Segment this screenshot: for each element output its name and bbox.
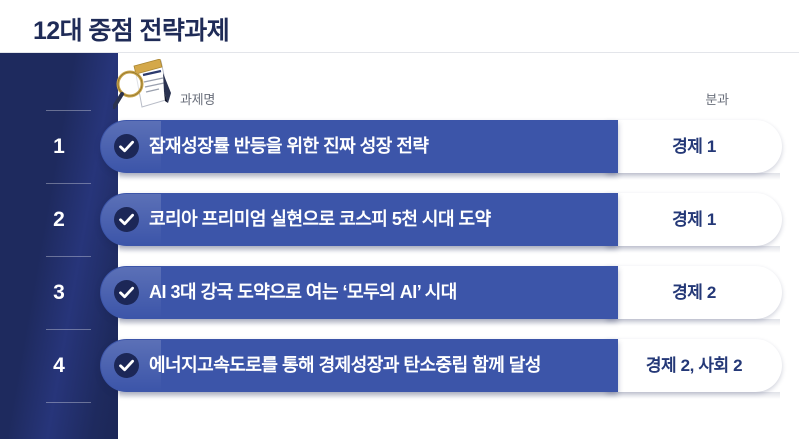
row-number: 4 xyxy=(42,339,76,392)
row-number: 2 xyxy=(42,193,76,246)
slide-root: 12대 중점 전략과제 과제명 분과 xyxy=(0,0,799,439)
column-header-division: 분과 xyxy=(672,89,762,108)
task-bar[interactable]: AI 3대 강국 도약으로 여는 ‘모두의 AI’ 시대 xyxy=(100,266,618,319)
check-circle-icon xyxy=(114,280,139,305)
table-row[interactable]: 3 AI 3대 강국 도약으로 여는 ‘모두의 AI’ 시대 경제 2 xyxy=(0,266,799,319)
task-name: AI 3대 강국 도약으로 여는 ‘모두의 AI’ 시대 xyxy=(149,266,457,319)
navy-divider xyxy=(46,402,91,403)
division-value: 경제 1 xyxy=(624,120,764,173)
division-value: 경제 2, 사회 2 xyxy=(624,339,764,392)
check-circle-icon xyxy=(114,353,139,378)
check-circle-icon xyxy=(114,207,139,232)
page-title: 12대 중점 전략과제 xyxy=(33,11,229,47)
task-bar[interactable]: 잠재성장률 반등을 위한 진짜 성장 전략 xyxy=(100,120,618,173)
navy-divider xyxy=(46,256,91,257)
title-bar: 12대 중점 전략과제 xyxy=(0,0,799,53)
division-value: 경제 1 xyxy=(624,193,764,246)
task-name: 에너지고속도로를 통해 경제성장과 탄소중립 함께 달성 xyxy=(149,339,541,392)
table-row[interactable]: 1 잠재성장률 반등을 위한 진짜 성장 전략 경제 1 xyxy=(0,120,799,173)
table-row[interactable]: 2 코리아 프리미엄 실현으로 코스피 5천 시대 도약 경제 1 xyxy=(0,193,799,246)
navy-divider xyxy=(46,110,91,111)
column-header-task: 과제명 xyxy=(180,89,215,108)
row-number: 1 xyxy=(42,120,76,173)
task-bar[interactable]: 에너지고속도로를 통해 경제성장과 탄소중립 함께 달성 xyxy=(100,339,618,392)
task-name: 코리아 프리미엄 실현으로 코스피 5천 시대 도약 xyxy=(149,193,491,246)
task-name: 잠재성장률 반등을 위한 진짜 성장 전략 xyxy=(149,120,428,173)
navy-divider xyxy=(46,183,91,184)
division-value: 경제 2 xyxy=(624,266,764,319)
navy-divider xyxy=(46,329,91,330)
table-row[interactable]: 4 에너지고속도로를 통해 경제성장과 탄소중립 함께 달성 경제 2, 사회 … xyxy=(0,339,799,392)
check-circle-icon xyxy=(114,134,139,159)
clipboard-magnifier-icon xyxy=(113,59,175,113)
row-number: 3 xyxy=(42,266,76,319)
task-bar[interactable]: 코리아 프리미엄 실현으로 코스피 5천 시대 도약 xyxy=(100,193,618,246)
